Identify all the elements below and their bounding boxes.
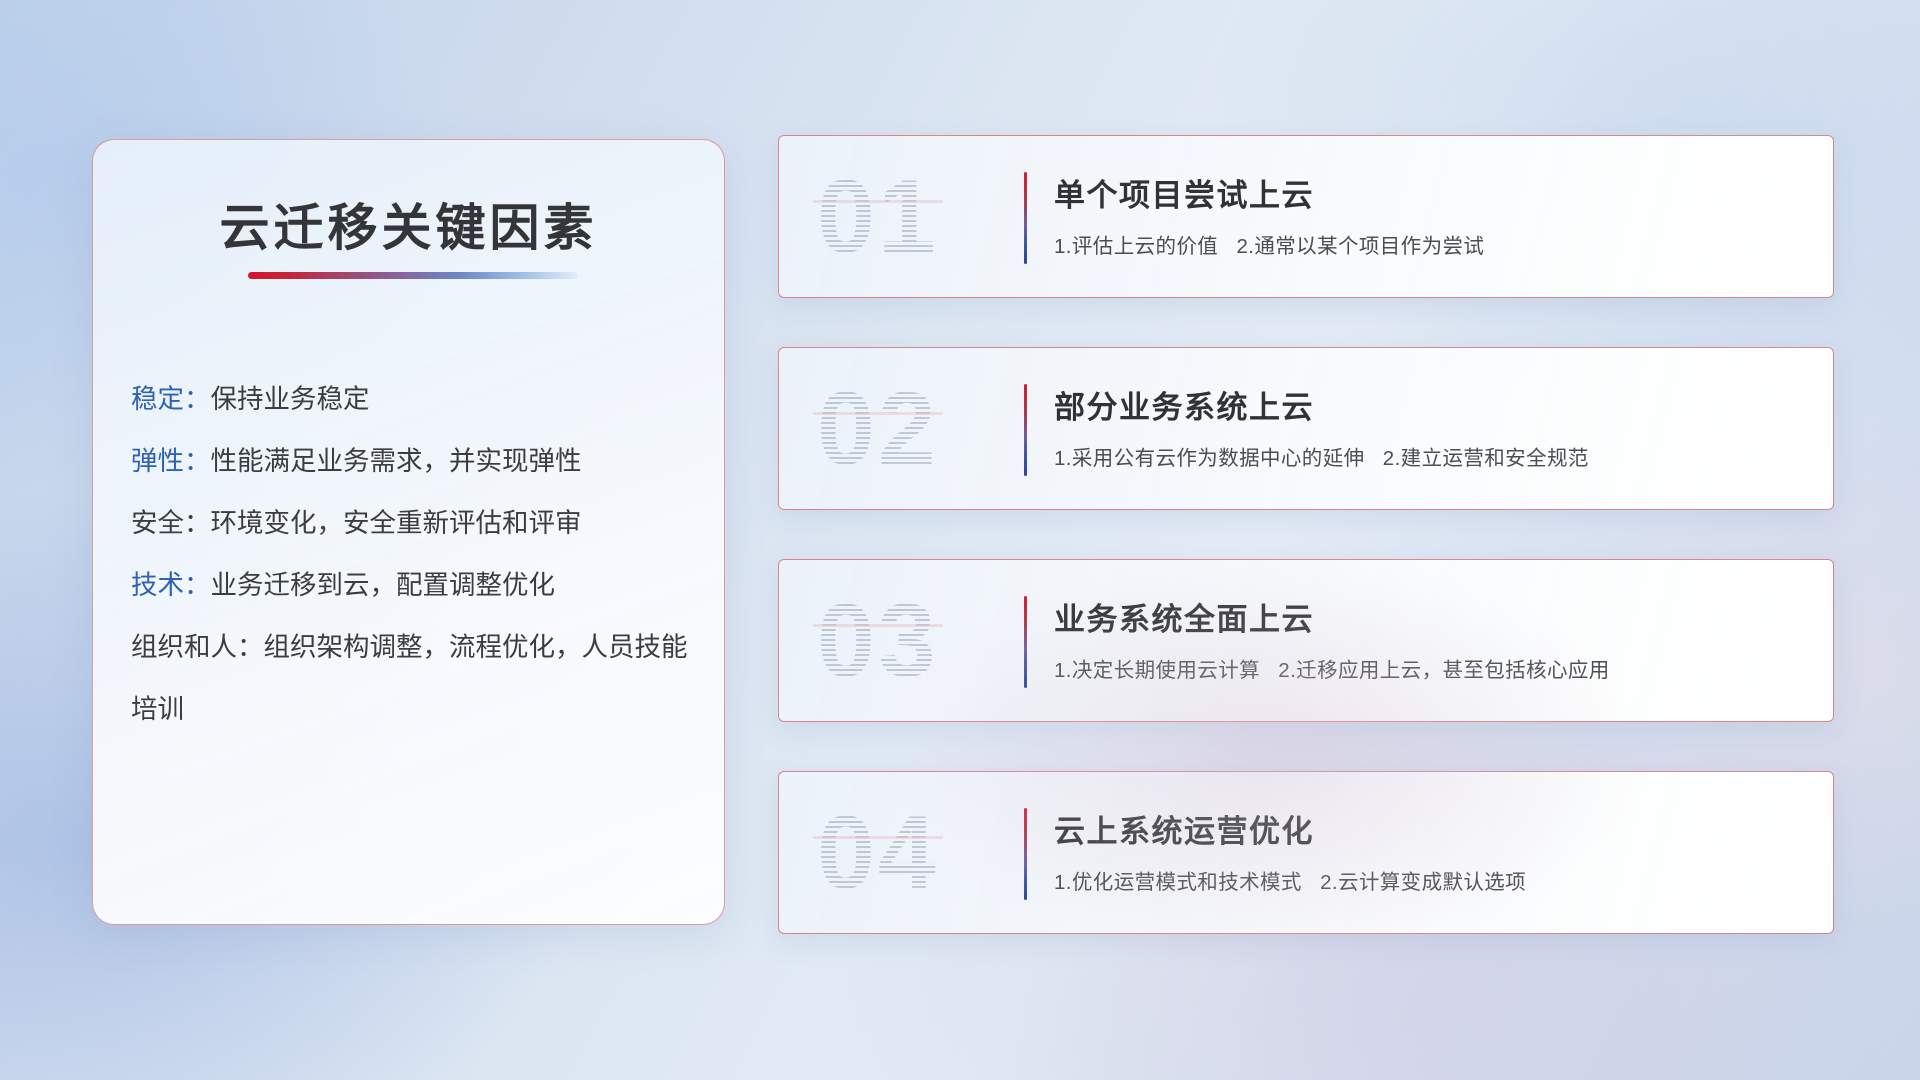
factor-item: 技术：业务迁移到云，配置调整优化	[131, 554, 706, 616]
stage-number: 03	[817, 589, 939, 693]
card-accent-divider	[1024, 808, 1027, 900]
card-accent-divider	[1024, 172, 1027, 264]
card-title: 云上系统运营优化	[1054, 806, 1807, 851]
stage-card[interactable]: 02 部分业务系统上云 1.采用公有云作为数据中心的延伸 2.建立运营和安全规范	[778, 347, 1834, 510]
stage-card[interactable]: 04 云上系统运营优化 1.优化运营模式和技术模式 2.云计算变成默认选项	[778, 771, 1834, 934]
card-title: 单个项目尝试上云	[1054, 170, 1807, 215]
stage-card[interactable]: 03 业务系统全面上云 1.决定长期使用云计算 2.迁移应用上云，甚至包括核心应…	[778, 559, 1834, 722]
factor-label: 组织和人：	[131, 632, 264, 662]
factor-item: 弹性：性能满足业务需求，并实现弹性	[131, 430, 706, 492]
card-body: 单个项目尝试上云 1.评估上云的价值 2.通常以某个项目作为尝试	[1054, 170, 1807, 259]
slide-canvas: 云迁移关键因素 稳定：保持业务稳定 弹性：性能满足业务需求，并实现弹性 安全：环…	[0, 0, 1920, 1080]
factor-list: 稳定：保持业务稳定 弹性：性能满足业务需求，并实现弹性 安全：环境变化，安全重新…	[131, 368, 706, 740]
migration-stage-card-list: 01 单个项目尝试上云 1.评估上云的价值 2.通常以某个项目作为尝试 02 部…	[778, 135, 1834, 934]
factor-label: 技术：	[131, 570, 211, 600]
factor-text: 保持业务稳定	[211, 384, 370, 414]
key-factors-panel: 云迁移关键因素 稳定：保持业务稳定 弹性：性能满足业务需求，并实现弹性 安全：环…	[92, 139, 725, 925]
stage-number: 04	[817, 801, 939, 905]
card-title: 部分业务系统上云	[1054, 382, 1807, 427]
factor-label: 安全：	[131, 508, 211, 538]
card-body: 部分业务系统上云 1.采用公有云作为数据中心的延伸 2.建立运营和安全规范	[1054, 382, 1807, 471]
card-body: 业务系统全面上云 1.决定长期使用云计算 2.迁移应用上云，甚至包括核心应用	[1054, 594, 1807, 683]
factor-text: 性能满足业务需求，并实现弹性	[211, 446, 582, 476]
factor-text: 环境变化，安全重新评估和评审	[211, 508, 582, 538]
card-title: 业务系统全面上云	[1054, 594, 1807, 639]
factor-item: 组织和人：组织架构调整，流程优化，人员技能培训	[131, 616, 706, 740]
stage-card[interactable]: 01 单个项目尝试上云 1.评估上云的价值 2.通常以某个项目作为尝试	[778, 135, 1834, 298]
factor-label: 稳定：	[131, 384, 211, 414]
factor-text: 业务迁移到云，配置调整优化	[211, 570, 556, 600]
card-accent-divider	[1024, 384, 1027, 476]
page-title: 云迁移关键因素	[93, 188, 724, 260]
title-underline-rule	[248, 272, 578, 279]
stage-number: 01	[817, 165, 939, 269]
factor-item: 稳定：保持业务稳定	[131, 368, 706, 430]
card-subtitle: 1.评估上云的价值 2.通常以某个项目作为尝试	[1054, 229, 1807, 259]
stage-number: 02	[817, 377, 939, 481]
card-body: 云上系统运营优化 1.优化运营模式和技术模式 2.云计算变成默认选项	[1054, 806, 1807, 895]
card-subtitle: 1.优化运营模式和技术模式 2.云计算变成默认选项	[1054, 865, 1807, 895]
factor-label: 弹性：	[131, 446, 211, 476]
card-accent-divider	[1024, 596, 1027, 688]
factor-item: 安全：环境变化，安全重新评估和评审	[131, 492, 706, 554]
card-subtitle: 1.决定长期使用云计算 2.迁移应用上云，甚至包括核心应用	[1054, 653, 1807, 683]
card-subtitle: 1.采用公有云作为数据中心的延伸 2.建立运营和安全规范	[1054, 441, 1807, 471]
